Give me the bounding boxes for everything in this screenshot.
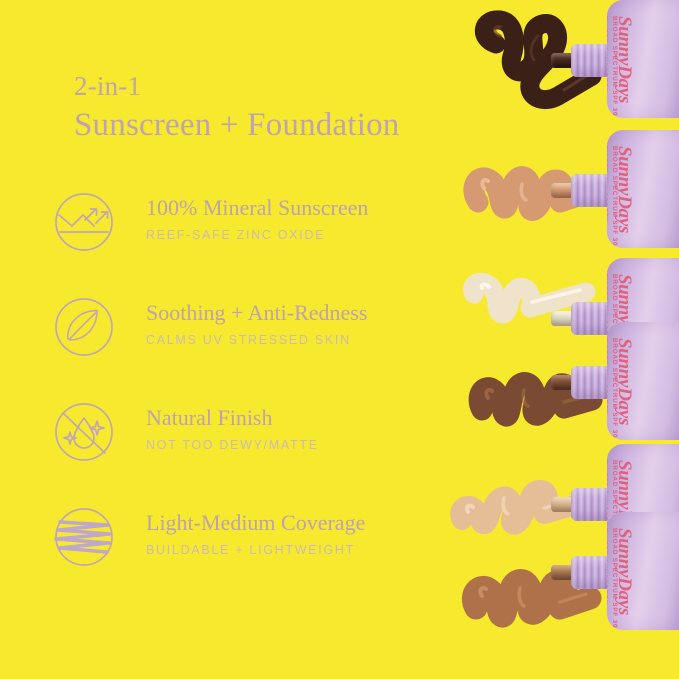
feature-text: Natural Finish NOT TOO DEWY/MATTE [146, 404, 476, 452]
feature-text: Soothing + Anti-Redness CALMS UV STRESSE… [146, 299, 476, 347]
feature-title: 100% Mineral Sunscreen [146, 194, 476, 223]
tube-label: SunnyDays BROAD SPECTRUM SPF 30 TINTED S… [607, 322, 679, 440]
feature-subtitle: REEF-SAFE ZINC OXIDE [146, 228, 476, 242]
feature-text: 100% Mineral Sunscreen REEF-SAFE ZINC OX… [146, 194, 476, 242]
tube-label: SunnyDays BROAD SPECTRUM SPF 30 TINTED S… [607, 512, 679, 630]
tube-copy: BROAD SPECTRUM SPF 30 TINTED SUNSCREEN 3… [607, 338, 619, 438]
shade-swatch-warm-caramel [462, 536, 622, 646]
tube-label: SunnyDays BROAD SPECTRUM SPF 30 TINTED S… [607, 0, 679, 118]
feature-list: 100% Mineral Sunscreen REEF-SAFE ZINC OX… [50, 188, 480, 608]
product-row: SunnyDays BROAD SPECTRUM SPF 30 TINTED S… [430, 512, 679, 662]
tube-spf-line: BROAD SPECTRUM SPF 30 [609, 146, 619, 246]
feature-item: Light-Medium Coverage BUILDABLE + LIGHTW… [50, 503, 480, 608]
page-root: 2-in-1 Sunscreen + Foundation 100% Miner… [0, 0, 679, 679]
feature-item: Natural Finish NOT TOO DEWY/MATTE [50, 398, 480, 503]
product-tube: SunnyDays BROAD SPECTRUM SPF 30 TINTED S… [607, 0, 679, 118]
no-dewy-droplet-icon [52, 400, 116, 464]
tube-spf-line: BROAD SPECTRUM SPF 30 [609, 16, 619, 116]
tube-spf-line: BROAD SPECTRUM SPF 30 [609, 528, 619, 628]
tube-copy: BROAD SPECTRUM SPF 30 TINTED SUNSCREEN 3… [607, 16, 619, 116]
tube-copy: BROAD SPECTRUM SPF 30 TINTED SUNSCREEN 3… [607, 528, 619, 628]
uv-reflect-icon [52, 190, 116, 254]
feature-subtitle: NOT TOO DEWY/MATTE [146, 438, 476, 452]
feature-item: 100% Mineral Sunscreen REEF-SAFE ZINC OX… [50, 188, 480, 293]
product-tube: SunnyDays BROAD SPECTRUM SPF 30 TINTED S… [607, 512, 679, 630]
feature-text: Light-Medium Coverage BUILDABLE + LIGHTW… [146, 509, 476, 557]
product-tube: SunnyDays BROAD SPECTRUM SPF 30 TINTED S… [607, 130, 679, 248]
coverage-swatch-icon [52, 505, 116, 569]
feature-title: Soothing + Anti-Redness [146, 299, 476, 328]
product-showcase: SunnyDays BROAD SPECTRUM SPF 30 TINTED S… [430, 0, 679, 679]
feature-title: Light-Medium Coverage [146, 509, 476, 538]
tube-label: SunnyDays BROAD SPECTRUM SPF 30 TINTED S… [607, 130, 679, 248]
product-row: SunnyDays BROAD SPECTRUM SPF 30 TINTED S… [430, 0, 679, 150]
feature-title: Natural Finish [146, 404, 476, 433]
tube-spf-line: BROAD SPECTRUM SPF 30 [609, 338, 619, 438]
feature-item: Soothing + Anti-Redness CALMS UV STRESSE… [50, 293, 480, 398]
feature-subtitle: CALMS UV STRESSED SKIN [146, 333, 476, 347]
feature-subtitle: BUILDABLE + LIGHTWEIGHT [146, 543, 476, 557]
leaf-icon [52, 295, 116, 359]
tube-copy: BROAD SPECTRUM SPF 30 TINTED SUNSCREEN 3… [607, 146, 619, 246]
product-tube: SunnyDays BROAD SPECTRUM SPF 30 TINTED S… [607, 322, 679, 440]
